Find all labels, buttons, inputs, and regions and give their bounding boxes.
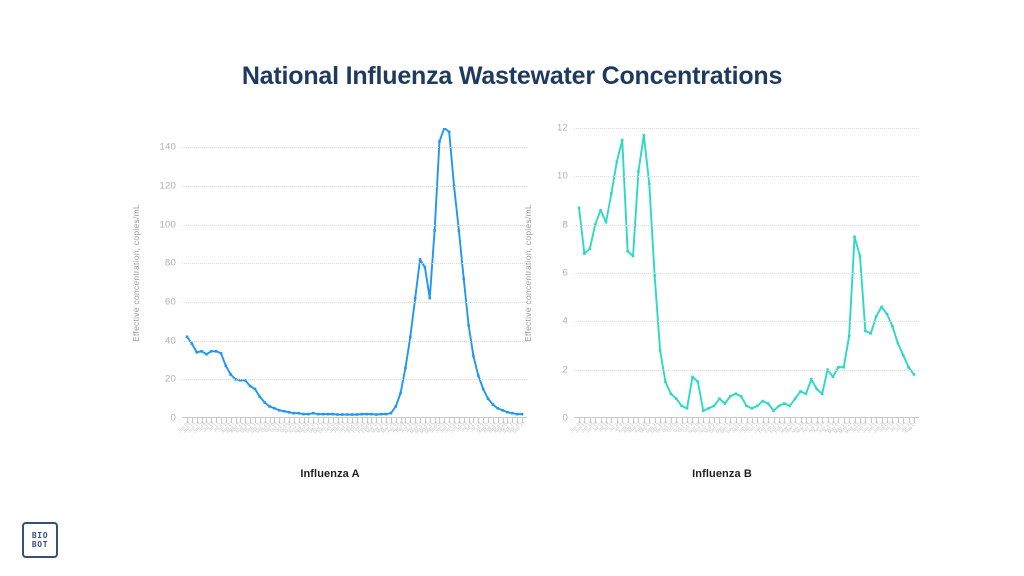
gridline <box>574 370 919 371</box>
data-point-marker <box>702 409 705 412</box>
y-tick-label: 2 <box>534 364 568 375</box>
data-point-marker <box>675 397 678 400</box>
axes-influenza-a <box>182 128 527 418</box>
data-point-marker <box>772 409 775 412</box>
data-point-marker <box>205 353 208 356</box>
data-point-marker <box>200 350 203 353</box>
y-tick-label: 120 <box>142 181 176 192</box>
data-point-marker <box>220 352 223 355</box>
data-point-marker <box>191 342 194 345</box>
data-point-marker <box>458 229 461 232</box>
data-point-marker <box>317 413 320 416</box>
line-series-influenza-a <box>182 128 527 418</box>
data-point-marker <box>664 380 667 383</box>
data-point-marker <box>390 412 393 415</box>
x-axis-labels-a: Jun 05Jun 12Jun 19Jun 26Jul 03Jul 10Jul … <box>182 420 527 460</box>
data-point-marker <box>788 405 791 408</box>
data-point-marker <box>336 413 339 416</box>
data-point-marker <box>428 297 431 300</box>
data-point-marker <box>467 324 470 327</box>
data-point-marker <box>375 413 378 416</box>
plot-area-influenza-b: Effective concentration, copies/mL 02468… <box>512 128 932 428</box>
data-point-marker <box>448 131 451 134</box>
data-point-marker <box>616 161 619 164</box>
data-point-marker <box>501 409 504 412</box>
gridline <box>182 263 527 264</box>
gridline <box>574 176 919 177</box>
y-axis-label-b-text: Effective concentration, copies/mL <box>523 204 533 342</box>
data-point-marker <box>365 413 368 416</box>
data-point-marker <box>599 209 602 212</box>
data-point-marker <box>837 366 840 369</box>
data-point-marker <box>506 411 509 414</box>
y-tick-label: 8 <box>534 219 568 230</box>
data-point-marker <box>697 380 700 383</box>
data-point-marker <box>385 413 388 416</box>
data-point-marker <box>312 412 315 415</box>
data-point-marker <box>799 390 802 393</box>
chart-panel-influenza-a: Effective concentration, copies/mL 02040… <box>120 128 540 508</box>
gridline <box>182 225 527 226</box>
gridline <box>574 321 919 322</box>
data-point-marker <box>605 221 608 224</box>
data-point-marker <box>707 407 710 410</box>
data-point-marker <box>370 413 373 416</box>
data-point-marker <box>621 139 624 142</box>
data-point-marker <box>249 385 252 388</box>
y-axis-ticks-b: 024681012 <box>534 128 568 418</box>
data-point-marker <box>886 313 889 316</box>
data-point-marker <box>610 192 613 195</box>
data-point-marker <box>670 393 673 396</box>
axes-influenza-b <box>574 128 919 418</box>
y-tick-label: 100 <box>142 219 176 230</box>
data-point-marker <box>438 140 441 143</box>
data-point-marker <box>756 405 759 408</box>
data-point-marker <box>297 412 300 415</box>
data-point-marker <box>740 395 743 398</box>
biobot-logo: BIO BOT <box>22 522 58 558</box>
data-point-marker <box>842 366 845 369</box>
data-point-marker <box>346 413 349 416</box>
data-point-marker <box>414 297 417 300</box>
data-point-marker <box>482 388 485 391</box>
data-point-marker <box>288 411 291 414</box>
data-point-marker <box>424 266 427 269</box>
data-point-marker <box>195 351 198 354</box>
data-point-marker <box>751 407 754 410</box>
data-point-marker <box>794 397 797 400</box>
data-point-marker <box>419 258 422 261</box>
data-point-marker <box>409 336 412 339</box>
data-point-marker <box>496 407 499 410</box>
data-point-marker <box>462 278 465 281</box>
data-point-marker <box>322 413 325 416</box>
data-point-marker <box>229 373 232 376</box>
data-point-marker <box>653 274 656 277</box>
data-point-marker <box>380 413 383 416</box>
data-point-marker <box>394 405 397 408</box>
data-point-marker <box>327 413 330 416</box>
data-point-marker <box>487 397 490 400</box>
data-point-marker <box>778 405 781 408</box>
y-tick-label: 60 <box>142 297 176 308</box>
data-point-marker <box>815 388 818 391</box>
data-point-marker <box>263 401 266 404</box>
data-point-marker <box>783 402 786 405</box>
data-point-marker <box>351 413 354 416</box>
data-point-marker <box>913 373 916 376</box>
y-tick-label: 4 <box>534 316 568 327</box>
data-point-marker <box>331 413 334 416</box>
data-point-marker <box>891 325 894 328</box>
data-point-marker <box>875 315 878 318</box>
data-point-marker <box>859 255 862 258</box>
data-point-marker <box>718 397 721 400</box>
data-point-marker <box>341 413 344 416</box>
data-point-marker <box>632 255 635 258</box>
data-point-marker <box>626 250 629 253</box>
y-tick-label: 6 <box>534 268 568 279</box>
data-point-marker <box>399 392 402 395</box>
series-line <box>187 128 522 415</box>
y-axis-ticks-a: 020406080100120140 <box>142 128 176 418</box>
data-point-marker <box>864 330 867 333</box>
y-tick-label: 20 <box>142 374 176 385</box>
data-point-marker <box>745 405 748 408</box>
data-point-marker <box>832 376 835 379</box>
gridline <box>182 186 527 187</box>
data-point-marker <box>210 350 213 353</box>
gridline <box>182 147 527 148</box>
y-tick-label: 0 <box>534 413 568 424</box>
data-point-marker <box>691 376 694 379</box>
data-point-marker <box>869 332 872 335</box>
data-point-marker <box>302 413 305 416</box>
biobot-logo-line-2: BOT <box>32 541 48 549</box>
data-point-marker <box>637 170 640 173</box>
data-point-marker <box>583 252 586 255</box>
data-point-marker <box>589 248 592 251</box>
page-title: National Influenza Wastewater Concentrat… <box>0 62 1024 91</box>
data-point-marker <box>729 395 732 398</box>
data-point-marker <box>848 335 851 338</box>
gridline <box>182 341 527 342</box>
gridline <box>574 273 919 274</box>
gridline <box>574 128 919 129</box>
data-point-marker <box>880 306 883 309</box>
y-tick-label: 0 <box>142 413 176 424</box>
data-point-marker <box>810 378 813 381</box>
data-point-marker <box>404 366 407 369</box>
gridline <box>182 379 527 380</box>
data-point-marker <box>307 413 310 416</box>
data-point-marker <box>254 388 257 391</box>
data-point-marker <box>734 393 737 396</box>
y-tick-label: 140 <box>142 142 176 153</box>
gridline <box>574 225 919 226</box>
data-point-marker <box>648 182 651 185</box>
data-point-marker <box>186 336 189 339</box>
data-point-marker <box>356 413 359 416</box>
data-point-marker <box>686 407 689 410</box>
data-point-marker <box>268 405 271 408</box>
data-point-marker <box>896 342 899 345</box>
data-point-marker <box>433 229 436 232</box>
chart-caption-influenza-b: Influenza B <box>512 468 932 480</box>
data-point-marker <box>578 206 581 209</box>
y-tick-label: 12 <box>534 123 568 134</box>
y-tick-label: 80 <box>142 258 176 269</box>
data-point-marker <box>360 413 363 416</box>
data-point-marker <box>902 354 905 357</box>
data-point-marker <box>492 403 495 406</box>
gridline <box>182 302 527 303</box>
plot-area-influenza-a: Effective concentration, copies/mL 02040… <box>120 128 540 428</box>
data-point-marker <box>680 405 683 408</box>
data-point-marker <box>713 405 716 408</box>
data-point-marker <box>215 350 218 353</box>
chart-caption-influenza-a: Influenza A <box>120 468 540 480</box>
data-point-marker <box>853 235 856 238</box>
data-point-marker <box>293 412 296 415</box>
data-point-marker <box>907 366 910 369</box>
data-point-marker <box>821 393 824 396</box>
slide-canvas: National Influenza Wastewater Concentrat… <box>0 0 1024 576</box>
data-point-marker <box>443 128 446 129</box>
data-point-marker <box>767 402 770 405</box>
data-point-marker <box>283 410 286 413</box>
y-tick-label: 10 <box>534 171 568 182</box>
data-point-marker <box>259 395 262 398</box>
data-point-marker <box>659 349 662 352</box>
chart-panel-influenza-b: Effective concentration, copies/mL 02468… <box>512 128 932 508</box>
biobot-logo-line-1: BIO <box>32 532 48 540</box>
y-axis-label-a-text: Effective concentration, copies/mL <box>131 204 141 342</box>
charts-container: Effective concentration, copies/mL 02040… <box>0 128 1024 508</box>
data-point-marker <box>724 402 727 405</box>
data-point-marker <box>477 374 480 377</box>
data-point-marker <box>761 400 764 403</box>
data-point-marker <box>472 355 475 358</box>
data-point-marker <box>273 407 276 410</box>
data-point-marker <box>805 393 808 396</box>
data-point-marker <box>225 365 228 368</box>
x-axis-labels-b: Jun 05Jun 12Jun 19Jun 26Jul 03Jul 10Jul … <box>574 420 919 460</box>
data-point-marker <box>278 409 281 412</box>
y-tick-label: 40 <box>142 335 176 346</box>
data-point-marker <box>643 134 646 137</box>
